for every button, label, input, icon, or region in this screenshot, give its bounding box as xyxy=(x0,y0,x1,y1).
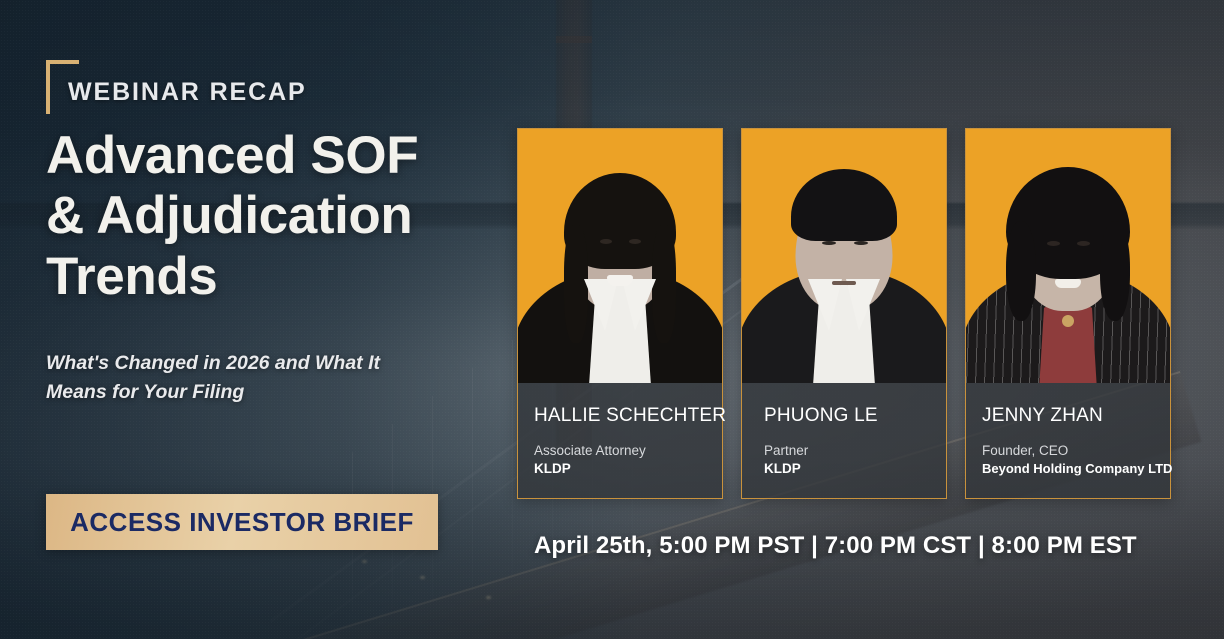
speaker-name: PHUONG LE xyxy=(764,405,930,427)
speaker-role: Founder, CEO xyxy=(982,443,1154,458)
speaker-organization: Beyond Holding Company LTD xyxy=(982,461,1154,476)
speaker-organization: KLDP xyxy=(534,461,706,476)
portrait-hair-side xyxy=(652,225,676,343)
page-title: Advanced SOF & Adjudication Trends xyxy=(46,126,506,307)
hero-text-column: WEBINAR RECAP Advanced SOF & Adjudicatio… xyxy=(46,56,506,408)
portrait-smile xyxy=(607,275,633,286)
portrait-eye xyxy=(600,239,612,244)
portrait-eye xyxy=(1077,241,1090,246)
speaker-card-list: HALLIE SCHECHTER Associate Attorney KLDP… xyxy=(517,128,1171,499)
speaker-info: PHUONG LE Partner KLDP xyxy=(742,383,946,498)
speaker-organization: KLDP xyxy=(764,461,930,476)
portrait-hair-side xyxy=(1006,221,1036,321)
headline-line-2: & Adjudication xyxy=(46,186,506,246)
headline-line-3: Trends xyxy=(46,247,506,307)
subtitle: What's Changed in 2026 and What It Means… xyxy=(46,349,436,408)
speaker-role: Partner xyxy=(764,443,930,458)
speaker-photo xyxy=(518,129,722,383)
portrait-hair xyxy=(791,169,897,241)
speaker-photo xyxy=(966,129,1170,383)
portrait-eye xyxy=(1047,241,1060,246)
eyebrow-group: WEBINAR RECAP xyxy=(46,56,506,104)
headline-line-1: Advanced SOF xyxy=(46,126,506,186)
portrait-eye xyxy=(854,241,868,245)
speaker-photo xyxy=(742,129,946,383)
portrait-hair-side xyxy=(1100,221,1130,321)
portrait-eye xyxy=(822,241,836,245)
speaker-name: JENNY ZHAN xyxy=(982,405,1154,427)
cta-label: ACCESS INVESTOR BRIEF xyxy=(70,507,414,538)
speaker-name: HALLIE SCHECHTER xyxy=(534,405,706,427)
subtitle-line-1: What's Changed in 2026 and What It xyxy=(46,349,436,378)
speaker-card[interactable]: HALLIE SCHECHTER Associate Attorney KLDP xyxy=(517,128,723,499)
eyebrow-label: WEBINAR RECAP xyxy=(68,78,307,107)
portrait-eye xyxy=(629,239,641,244)
portrait-mouth xyxy=(832,281,856,285)
speaker-card[interactable]: JENNY ZHAN Founder, CEO Beyond Holding C… xyxy=(965,128,1171,499)
speaker-card[interactable]: PHUONG LE Partner KLDP xyxy=(741,128,947,499)
portrait-necklace-pendant xyxy=(1062,315,1074,327)
portrait-hair-side xyxy=(564,225,588,343)
portrait-smile xyxy=(1055,279,1081,288)
speaker-role: Associate Attorney xyxy=(534,443,706,458)
access-investor-brief-button[interactable]: ACCESS INVESTOR BRIEF xyxy=(46,494,438,550)
subtitle-line-2: Means for Your Filing xyxy=(46,378,436,407)
webinar-recap-banner: WEBINAR RECAP Advanced SOF & Adjudicatio… xyxy=(0,0,1224,639)
schedule-text: April 25th, 5:00 PM PST | 7:00 PM CST | … xyxy=(534,532,1137,560)
speaker-info: JENNY ZHAN Founder, CEO Beyond Holding C… xyxy=(966,383,1170,498)
speaker-info: HALLIE SCHECHTER Associate Attorney KLDP xyxy=(518,383,722,498)
